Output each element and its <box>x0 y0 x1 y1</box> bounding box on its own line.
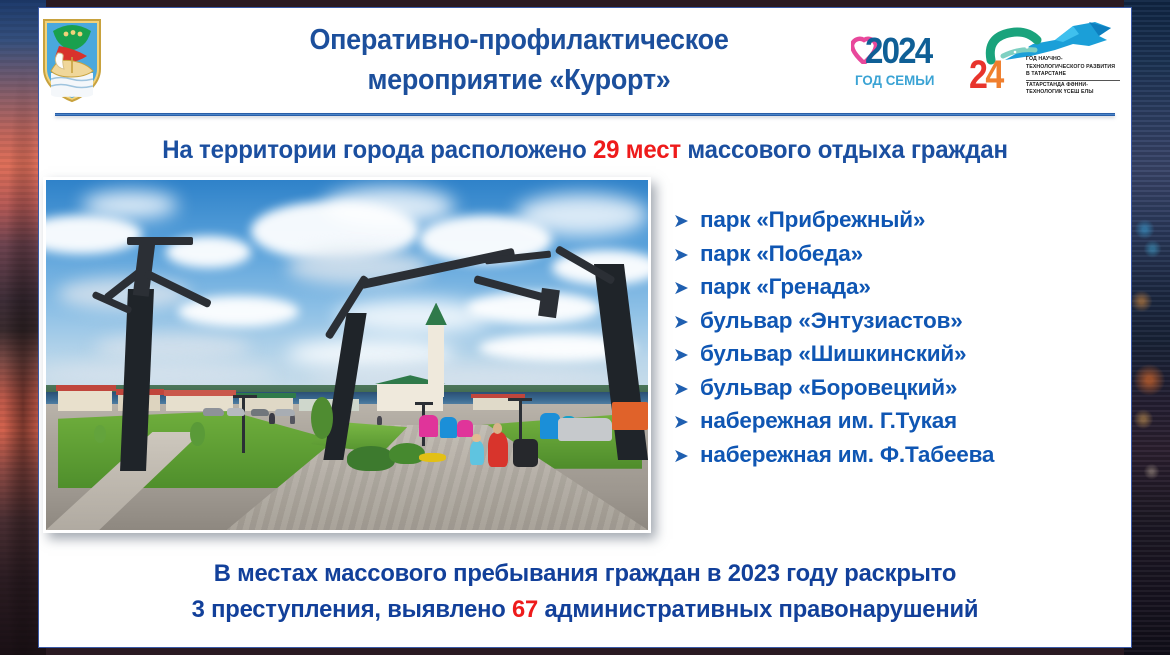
person-distant <box>377 416 382 425</box>
slide-card: Оперативно-профилактическое мероприятие … <box>38 7 1132 648</box>
arrow-bullet-icon: ➤ <box>673 406 689 440</box>
cloud <box>43 362 275 387</box>
person-head <box>472 434 480 442</box>
tech-year-number: 24 <box>969 53 1002 98</box>
tree-lamp-branch <box>538 287 560 317</box>
slide-header: Оперативно-профилактическое мероприятие … <box>39 8 1131 116</box>
tree-lamp-head <box>127 237 193 245</box>
street-lamp-arm <box>233 395 257 398</box>
subtitle-accent-count: 29 мест <box>593 136 681 164</box>
street-lamp-arm <box>508 398 532 401</box>
year-of-family-label: ГОД СЕМЬИ <box>855 72 934 88</box>
year-2024-label: 2024 <box>865 30 931 72</box>
car-parked <box>558 418 612 441</box>
list-item-label: бульвар «Боровецкий» <box>700 371 957 405</box>
places-list: ➤ парк «Прибрежный» ➤ парк «Победа» ➤ па… <box>673 203 1133 471</box>
cloud <box>82 191 178 219</box>
list-item[interactable]: ➤ парк «Победа» <box>673 237 1133 271</box>
car-distant <box>227 408 245 416</box>
list-item[interactable]: ➤ бульвар «Энтузиастов» <box>673 304 1133 338</box>
footer-line2-part2: административных правонарушений <box>538 596 978 623</box>
flower-bed <box>419 453 446 462</box>
footer-statistics: В местах массового пребывания граждан в … <box>55 556 1114 628</box>
list-item[interactable]: ➤ набережная им. Ф.Табеева <box>673 438 1133 472</box>
tech-caption-ru: ГОД НАУЧНО-ТЕХНОЛОГИЧЕСКОГО РАЗВИТИЯ В Т… <box>1026 56 1115 77</box>
list-item-label: парк «Прибрежный» <box>700 203 925 237</box>
colorful-figure <box>457 420 473 438</box>
arrow-bullet-icon: ➤ <box>673 205 689 239</box>
page-title-line2: мероприятие «Курорт» <box>184 60 854 100</box>
person-child <box>470 441 483 466</box>
year-of-family-logo: 2024 ГОД СЕМЬИ <box>849 22 969 102</box>
photo-minaret <box>428 324 444 398</box>
sapling-tree <box>190 422 204 447</box>
colorful-figure <box>419 415 438 438</box>
list-item[interactable]: ➤ парк «Гренада» <box>673 270 1133 304</box>
arrow-bullet-icon: ➤ <box>673 272 689 306</box>
page-title-line1: Оперативно-профилактическое <box>184 20 854 60</box>
photo-roof <box>164 390 236 396</box>
subtitle-part1: На территории города расположено <box>162 136 593 164</box>
logo-group: 2024 ГОД СЕМЬИ <box>849 18 1125 106</box>
cloud <box>516 194 648 236</box>
footer-line2: 3 преступления, выявлено 67 администрати… <box>55 592 1114 628</box>
tech-caption-tt: ТАТАРСТАНДА ФӘННИ-ТЕХНОЛОГИК ҮСЕШ ЕЛЫ <box>1026 80 1120 97</box>
list-item[interactable]: ➤ бульвар «Боровецкий» <box>673 371 1133 405</box>
list-item[interactable]: ➤ парк «Прибрежный» <box>673 203 1133 237</box>
arrow-bullet-icon: ➤ <box>673 306 689 340</box>
photo-building <box>58 390 112 411</box>
list-item[interactable]: ➤ набережная им. Г.Тукая <box>673 404 1133 438</box>
footer-accent-count: 67 <box>512 596 538 623</box>
park-photo <box>43 177 651 533</box>
footer-line1: В местах массового пребывания граждан в … <box>55 556 1114 592</box>
coat-of-arms-icon <box>39 17 105 103</box>
arrow-bullet-icon: ➤ <box>673 440 689 474</box>
slide-root: Оперативно-профилактическое мероприятие … <box>0 0 1170 655</box>
person-distant <box>269 413 275 424</box>
list-item[interactable]: ➤ бульвар «Шишкинский» <box>673 337 1133 371</box>
person-head <box>493 423 503 434</box>
footer-line2-part1: 3 преступления, выявлено <box>192 596 512 623</box>
list-item-label: набережная им. Г.Тукая <box>700 404 957 438</box>
car-distant <box>251 409 269 416</box>
street-lamp <box>242 397 246 453</box>
tech-year-caption: ГОД НАУЧНО-ТЕХНОЛОГИЧЕСКОГО РАЗВИТИЯ В Т… <box>1026 56 1120 97</box>
list-item-label: бульвар «Энтузиастов» <box>700 304 963 338</box>
arrow-bullet-icon: ➤ <box>673 239 689 273</box>
subtitle: На территории города расположено 29 мест… <box>61 136 1109 165</box>
arrow-bullet-icon: ➤ <box>673 339 689 373</box>
colorful-figure <box>440 417 457 437</box>
photo-roof <box>56 385 116 391</box>
shrub <box>347 446 395 471</box>
list-item-label: парк «Гренада» <box>700 270 871 304</box>
cloud <box>323 187 455 226</box>
page-title: Оперативно-профилактическое мероприятие … <box>184 20 854 100</box>
subtitle-part2: массового отдыха граждан <box>681 136 1008 164</box>
list-item-label: бульвар «Шишкинский» <box>700 337 966 371</box>
tatarstan-tech-year-logo: 24 ГОД НАУЧНО-ТЕХНОЛОГИЧЕСКОГО РАЗВИТИЯ … <box>969 20 1121 104</box>
list-item-label: набережная им. Ф.Табеева <box>700 438 994 472</box>
stroller <box>513 439 538 467</box>
truck <box>612 402 648 430</box>
car-distant <box>275 409 295 417</box>
header-divider <box>55 113 1115 116</box>
list-item-label: парк «Победа» <box>700 237 863 271</box>
photo-building <box>166 395 232 411</box>
person-adult <box>488 432 507 467</box>
sapling-tree <box>311 397 333 439</box>
arrow-bullet-icon: ➤ <box>673 373 689 407</box>
car-distant <box>203 408 225 416</box>
cloud <box>94 334 251 362</box>
street-lamp-arm <box>415 402 433 404</box>
sapling-tree <box>94 425 106 443</box>
